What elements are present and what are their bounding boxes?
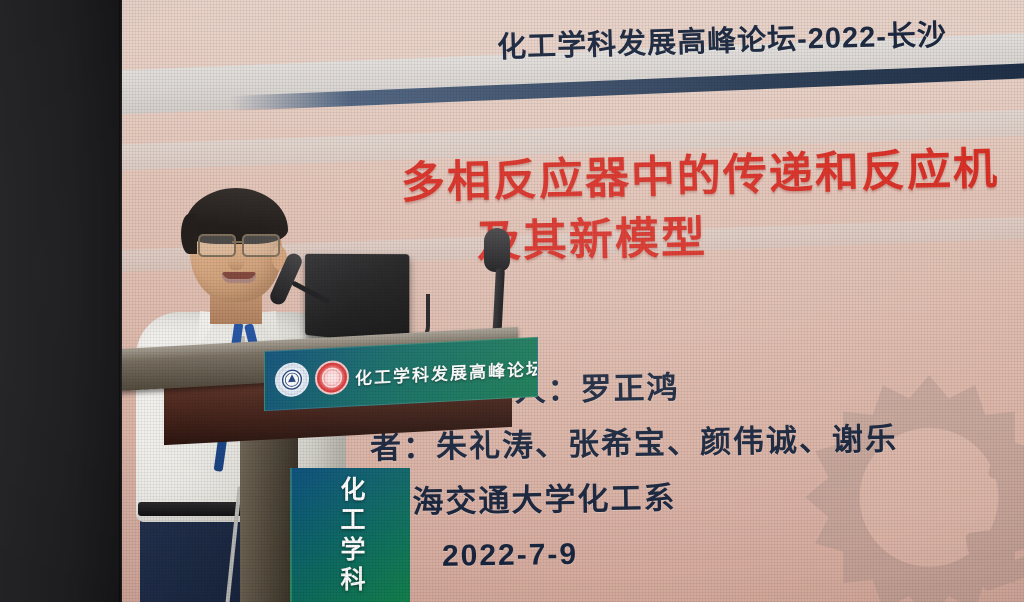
eyeglass-lens-left <box>198 234 236 257</box>
podium-banner-text: 化工学科发展高峰论坛 <box>355 354 538 389</box>
microphone-head <box>268 251 305 307</box>
eyeglass-bridge <box>232 241 244 243</box>
screenshot-root: 化工学科发展高峰论坛-2022-长沙 多相反应器中的传递和反应机 及其新模型 汇… <box>0 0 1024 602</box>
podium: 化工学科发展高峰论坛 化工学科 <box>118 338 538 602</box>
microphone-secondary <box>470 228 530 338</box>
university-seal-blue-icon <box>275 362 309 398</box>
microphone-arm <box>291 280 330 304</box>
speaker-mouth <box>222 272 256 283</box>
dark-stage-wall <box>0 0 122 602</box>
microphone-secondary-head <box>484 228 510 272</box>
vertical-banner-text: 化工学科 <box>333 476 369 596</box>
eyeglasses <box>192 234 284 254</box>
microphone <box>272 250 342 320</box>
vertical-banner: 化工学科 <box>290 468 410 602</box>
university-seal-red-icon <box>315 360 349 396</box>
